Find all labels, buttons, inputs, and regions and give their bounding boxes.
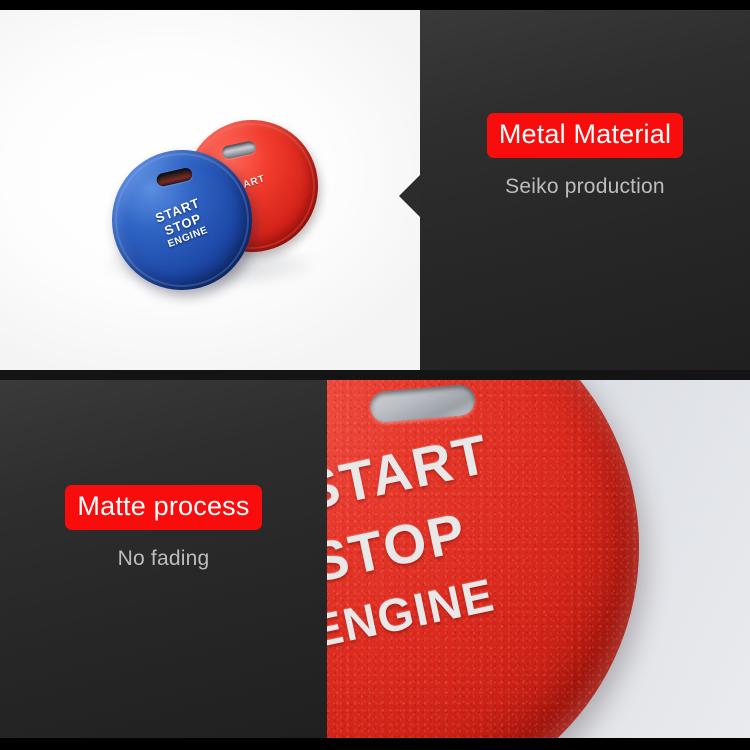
matte-process-caption: Matte process No fading	[0, 485, 327, 571]
metal-material-badge: Metal Material	[487, 113, 683, 158]
macro-closeup-panel: START STOP ENGINE	[327, 380, 750, 738]
matte-process-subtitle: No fading	[0, 547, 327, 571]
metal-material-caption: Metal Material Seiko production	[420, 113, 750, 199]
matte-process-badge: Matte process	[65, 485, 261, 530]
letterbox-bottom-bar	[0, 738, 750, 750]
pointer-left-icon	[399, 175, 420, 217]
letterbox-top-bar	[0, 0, 750, 10]
matte-process-panel: Matte process No fading	[0, 380, 327, 738]
product-collage-stage: ART START STOP ENGINE Metal Material Sei…	[0, 0, 750, 750]
metal-material-panel: Metal Material Seiko production	[420, 10, 750, 370]
metal-material-subtitle: Seiko production	[420, 175, 750, 199]
product-photo-panel: ART START STOP ENGINE	[0, 10, 420, 370]
panel-divider-horizontal	[0, 370, 750, 380]
